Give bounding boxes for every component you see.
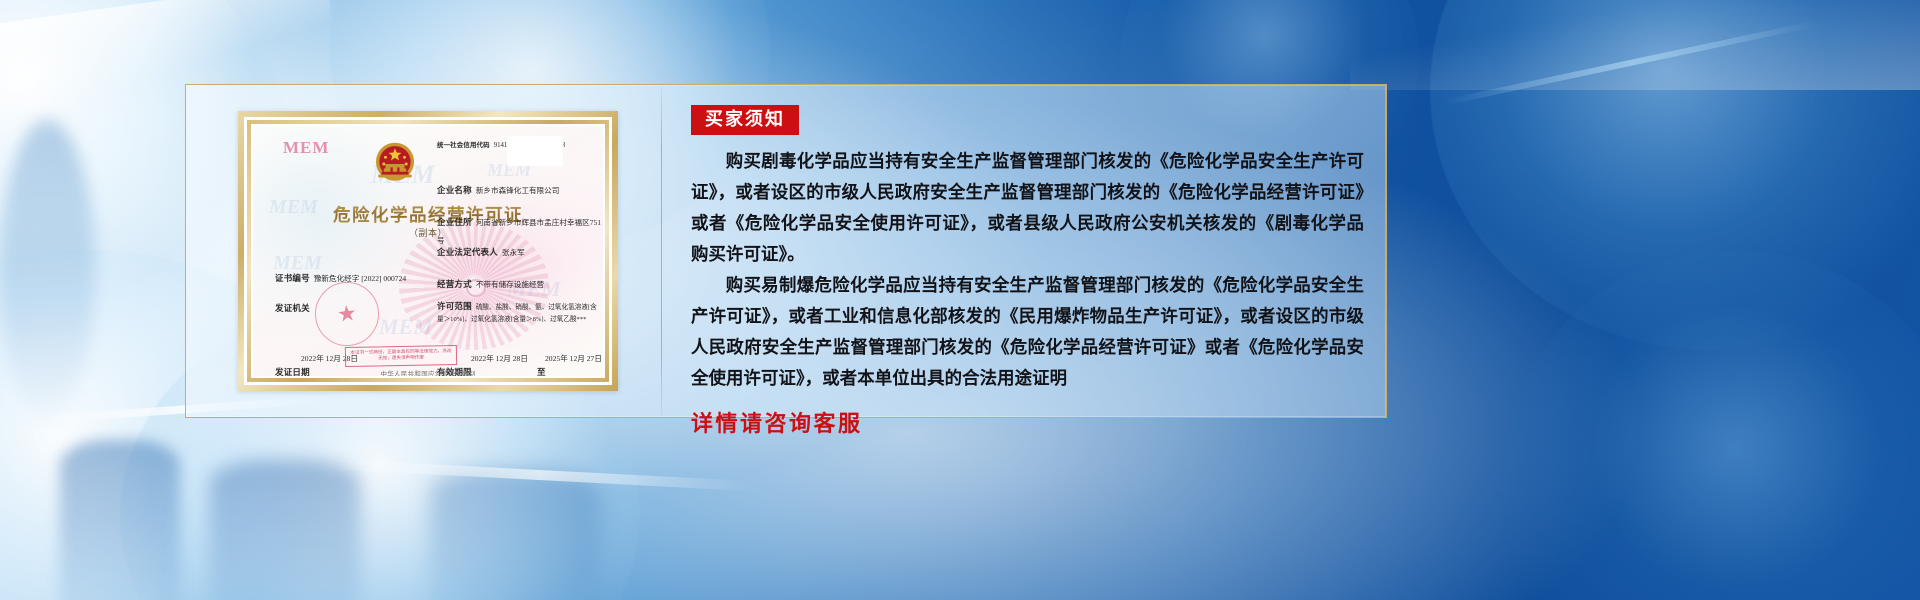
certificate-footer: 中华人民共和国应急管理部监制 xyxy=(253,369,603,376)
china-national-emblem-icon xyxy=(367,136,423,192)
license-certificate-image[interactable]: MEM MEM MEM MEM MEM MEM MEM xyxy=(238,111,618,391)
field-label: 企业法定代表人 xyxy=(437,247,498,257)
field-label: 企业住所 xyxy=(437,217,472,227)
red-notice-box: 本证书一式两份，正副本具有同等法律效力，涂改无效，遗失须声明作废 xyxy=(345,345,457,367)
field-value: 2025年 12月 27日 xyxy=(545,353,602,364)
notice-panel: MEM MEM MEM MEM MEM MEM MEM xyxy=(185,84,1387,418)
certificate-field-scope: 许可范围 硫酸、盐酸、硝酸、氨、过氧化氢溶液[含量＞10%]、过氧化氢溶液[含量… xyxy=(437,300,603,324)
certificate-face: MEM MEM MEM MEM MEM MEM MEM xyxy=(253,126,603,376)
field-value: 新乡市森锋化工有限公司 xyxy=(476,186,560,195)
field-label: 统一社会信用代码 xyxy=(437,142,490,149)
field-label: 经营方式 xyxy=(437,279,472,289)
certificate-field-company-name: 企业名称 新乡市森锋化工有限公司 xyxy=(437,180,559,198)
redaction-patch xyxy=(507,136,563,166)
field-value: 2022年 12月 28日 xyxy=(471,353,528,364)
certificate-field-issuer: 发证机关 xyxy=(275,298,310,316)
field-label: 企业名称 xyxy=(437,185,472,195)
field-label: 许可范围 xyxy=(437,301,472,311)
field-label: 发证机关 xyxy=(275,303,310,313)
notice-paragraph-1: 购买剧毒化学品应当持有安全生产监督管理部门核发的《危险化学品安全生产许可证》，或… xyxy=(691,146,1364,270)
buyer-notice-badge: 买家须知 xyxy=(691,105,799,135)
notice-content: 买家须知 购买剧毒化学品应当持有安全生产监督管理部门核发的《危险化学品安全生产许… xyxy=(691,105,1364,438)
official-round-seal: ★ xyxy=(312,279,382,349)
panel-divider xyxy=(661,86,662,416)
field-label: 证书编号 xyxy=(275,273,310,283)
field-value: 豫新危化经字 [2022] 000724 xyxy=(314,274,406,283)
certificate-field-legal-rep: 企业法定代表人 张永军 xyxy=(437,242,525,260)
mem-brand-mark: MEM xyxy=(283,138,329,158)
certificate-field-business-mode: 经营方式 不带有储存设施经营 xyxy=(437,274,544,292)
field-value: 张永军 xyxy=(502,248,525,257)
contact-support-cta[interactable]: 详情请咨询客服 xyxy=(691,406,1364,438)
field-value: 不带有储存设施经营 xyxy=(476,280,544,289)
notice-paragraph-2: 购买易制爆危险化学品应当持有安全生产监督管理部门核发的《危险化学品安全生产许可证… xyxy=(691,270,1364,394)
